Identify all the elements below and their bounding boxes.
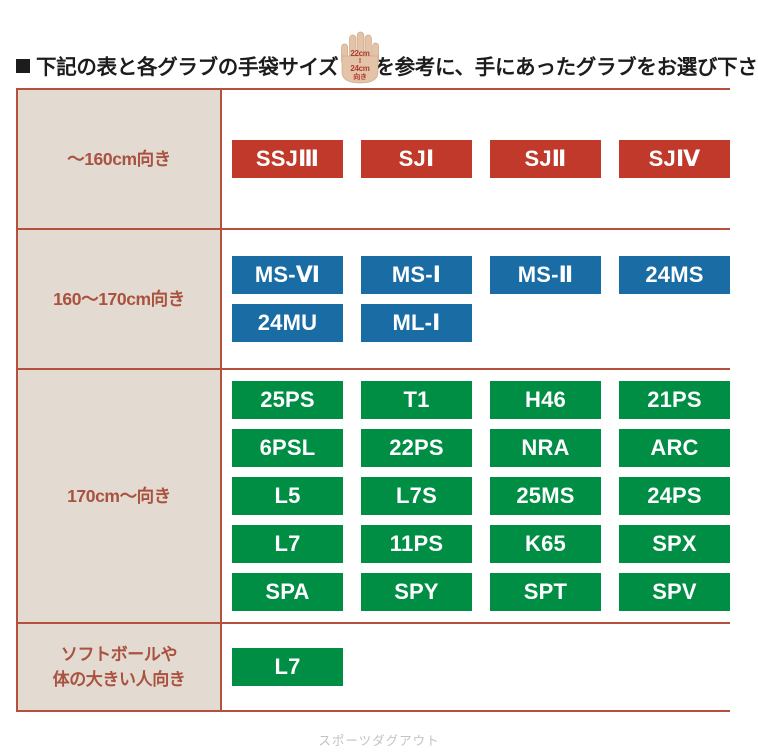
badge-line: 24MU ML-Ⅰ — [222, 304, 746, 342]
model-badge[interactable]: MS-Ⅵ — [232, 256, 343, 294]
badge-slot: MS-Ⅱ — [490, 256, 616, 294]
row-label-line2: 体の大きい人向き — [53, 667, 186, 692]
badge-slot: K65 — [490, 525, 616, 563]
model-badge[interactable]: MS-Ⅰ — [361, 256, 472, 294]
model-badge[interactable]: 22PS — [361, 429, 472, 467]
model-badge[interactable]: SJⅣ — [619, 140, 730, 178]
badge-slot: SSJⅢ — [232, 140, 358, 178]
model-badge[interactable]: NRA — [490, 429, 601, 467]
model-badge[interactable]: SPV — [619, 573, 730, 611]
filled-square-icon — [16, 59, 30, 73]
model-badge-empty — [490, 648, 601, 686]
badge-slot: 24MS — [619, 256, 745, 294]
model-badge[interactable]: 25PS — [232, 381, 343, 419]
svg-text:22cm: 22cm — [351, 49, 370, 58]
page-header: 下記の表と各グラブの手袋サイズ 22cm 24cm 向き を参考に、手にあったグ… — [0, 14, 758, 84]
badge-line: 25PS T1 H46 21PS — [222, 381, 746, 419]
model-badge[interactable]: T1 — [361, 381, 472, 419]
model-badge-empty — [619, 304, 730, 342]
badge-slot-empty — [619, 304, 745, 342]
badge-slot: 25MS — [490, 477, 616, 515]
header-instruction-text: 下記の表と各グラブの手袋サイズ 22cm 24cm 向き を参考に、手にあったグ… — [16, 54, 746, 83]
badge-slot: NRA — [490, 429, 616, 467]
badge-slot: 25PS — [232, 381, 358, 419]
badge-line: L5 L7S 25MS 24PS — [222, 477, 746, 515]
model-badge[interactable]: 21PS — [619, 381, 730, 419]
model-badge[interactable]: SPT — [490, 573, 601, 611]
model-badge[interactable]: K65 — [490, 525, 601, 563]
badge-slot: SPV — [619, 573, 745, 611]
hand-icon-slot: 22cm 24cm 向き — [338, 55, 374, 83]
badge-slot: L7 — [232, 525, 358, 563]
model-badge-empty — [490, 304, 601, 342]
badge-line: L7 — [222, 648, 746, 686]
model-badge-empty — [619, 648, 730, 686]
badge-slot: SJⅣ — [619, 140, 745, 178]
model-badge[interactable]: ML-Ⅰ — [361, 304, 472, 342]
model-badge[interactable]: H46 — [490, 381, 601, 419]
model-badge[interactable]: 25MS — [490, 477, 601, 515]
model-badge[interactable]: SJⅡ — [490, 140, 601, 178]
badge-slot: SPY — [361, 573, 487, 611]
badge-slot: 11PS — [361, 525, 487, 563]
badge-slot-empty — [490, 648, 616, 686]
row-label-height-range: 〜160cm向き — [18, 90, 222, 228]
model-badge[interactable]: 24MS — [619, 256, 730, 294]
row-label-height-range: 160〜170cm向き — [18, 230, 222, 368]
badge-slot: SJⅠ — [361, 140, 487, 178]
model-badge[interactable]: 24PS — [619, 477, 730, 515]
header-text-after: を参考に、手にあったグラブをお選び下さい。 — [374, 56, 758, 79]
row-badges: SSJⅢ SJⅠ SJⅡ SJⅣ — [222, 90, 746, 228]
badge-slot: 24MU — [232, 304, 358, 342]
model-badge[interactable]: SJⅠ — [361, 140, 472, 178]
row-badges: MS-Ⅵ MS-Ⅰ MS-Ⅱ 24MS 24MU ML-Ⅰ — [222, 230, 746, 368]
model-badge[interactable]: SPY — [361, 573, 472, 611]
svg-text:24cm: 24cm — [351, 64, 370, 73]
badge-slot: L7 — [232, 648, 358, 686]
badge-slot: MS-Ⅵ — [232, 256, 358, 294]
badge-slot: T1 — [361, 381, 487, 419]
badge-slot: MS-Ⅰ — [361, 256, 487, 294]
badge-line: L7 11PS K65 SPX — [222, 525, 746, 563]
badge-slot: 22PS — [361, 429, 487, 467]
badge-line: MS-Ⅵ MS-Ⅰ MS-Ⅱ 24MS — [222, 256, 746, 294]
badge-slot-empty — [361, 648, 487, 686]
footer-watermark: スポーツダグアウト — [0, 730, 758, 749]
model-badge[interactable]: SSJⅢ — [232, 140, 343, 178]
model-badge[interactable]: SPA — [232, 573, 343, 611]
badge-slot-empty — [490, 304, 616, 342]
model-badge[interactable]: 11PS — [361, 525, 472, 563]
model-badge[interactable]: L7 — [232, 525, 343, 563]
model-badge[interactable]: L7S — [361, 477, 472, 515]
model-badge[interactable]: L5 — [232, 477, 343, 515]
table-row: 〜160cm向き SSJⅢ SJⅠ SJⅡ SJⅣ — [18, 90, 728, 230]
svg-text:向き: 向き — [354, 72, 368, 81]
model-badge[interactable]: SPX — [619, 525, 730, 563]
badge-slot: 24PS — [619, 477, 745, 515]
badge-line: 6PSL 22PS NRA ARC — [222, 429, 746, 467]
badge-slot: H46 — [490, 381, 616, 419]
model-badge-empty — [361, 648, 472, 686]
badge-slot: 21PS — [619, 381, 745, 419]
model-badge[interactable]: MS-Ⅱ — [490, 256, 601, 294]
model-badge[interactable]: 24MU — [232, 304, 343, 342]
row-label-height-range: 170cm〜向き — [18, 370, 222, 622]
table-row: ソフトボールや 体の大きい人向き L7 — [18, 624, 728, 710]
model-badge[interactable]: ARC — [619, 429, 730, 467]
badge-slot: ML-Ⅰ — [361, 304, 487, 342]
badge-slot: SJⅡ — [490, 140, 616, 178]
table-row: 160〜170cm向き MS-Ⅵ MS-Ⅰ MS-Ⅱ 24MS 24MU — [18, 230, 728, 370]
glove-size-table: 〜160cm向き SSJⅢ SJⅠ SJⅡ SJⅣ 160〜170cm向き — [16, 88, 730, 712]
row-badges: 25PS T1 H46 21PS 6PSL 22PS — [222, 370, 746, 622]
badge-line: SSJⅢ SJⅠ SJⅡ SJⅣ — [222, 140, 746, 178]
badge-slot: SPX — [619, 525, 745, 563]
hand-size-icon: 22cm 24cm 向き — [338, 30, 382, 86]
badge-slot: SPA — [232, 573, 358, 611]
header-text-before: 下記の表と各グラブの手袋サイズ — [36, 56, 338, 79]
row-label-body-type: ソフトボールや 体の大きい人向き — [18, 624, 222, 710]
badge-slot: ARC — [619, 429, 745, 467]
model-badge[interactable]: 6PSL — [232, 429, 343, 467]
model-badge[interactable]: L7 — [232, 648, 343, 686]
badge-slot: 6PSL — [232, 429, 358, 467]
row-badges: L7 — [222, 624, 746, 710]
badge-slot: L5 — [232, 477, 358, 515]
row-label-line1: ソフトボールや — [53, 642, 186, 667]
badge-slot-empty — [619, 648, 745, 686]
badge-slot: L7S — [361, 477, 487, 515]
badge-line: SPA SPY SPT SPV — [222, 573, 746, 611]
badge-slot: SPT — [490, 573, 616, 611]
table-row: 170cm〜向き 25PS T1 H46 21PS 6PSL — [18, 370, 728, 624]
